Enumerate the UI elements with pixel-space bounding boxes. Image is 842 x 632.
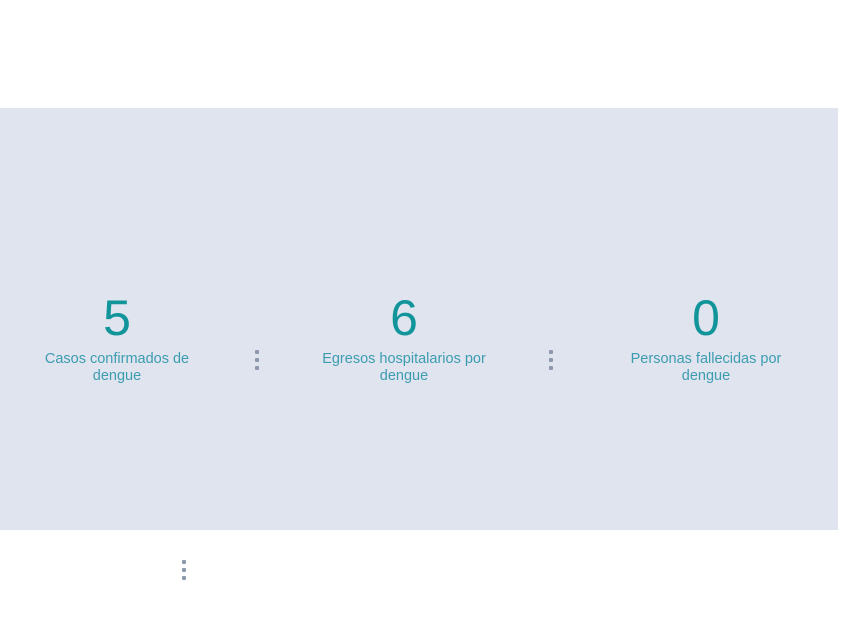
kebab-dot — [182, 568, 186, 572]
kpi-card-casos-confirmados[interactable]: 5 Casos confirmados de dengue — [0, 108, 234, 530]
kpi-body: 6 Egresos hospitalarios por dengue — [234, 293, 574, 384]
kebab-dot — [549, 358, 553, 362]
more-options-icon[interactable] — [176, 558, 192, 582]
kebab-dot — [255, 366, 259, 370]
kpi-label: Personas fallecidas por dengue — [574, 351, 838, 384]
kpi-value: 5 — [0, 293, 234, 343]
kebab-dot — [255, 358, 259, 362]
kpi-body: 0 Personas fallecidas por dengue — [574, 293, 838, 384]
kpi-row: 5 Casos confirmados de dengue 6 Egresos … — [0, 108, 838, 530]
dashboard-panel: 5 Casos confirmados de dengue 6 Egresos … — [0, 108, 838, 530]
kebab-dot — [182, 576, 186, 580]
kpi-label: Casos confirmados de dengue — [0, 351, 234, 384]
kebab-dot — [549, 350, 553, 354]
kpi-value: 0 — [574, 293, 838, 343]
more-options-icon[interactable] — [249, 348, 265, 372]
more-options-icon[interactable] — [543, 348, 559, 372]
kpi-card-egresos-hospitalarios[interactable]: 6 Egresos hospitalarios por dengue — [234, 108, 574, 530]
kebab-dot — [182, 560, 186, 564]
kpi-value: 6 — [234, 293, 574, 343]
kpi-card-personas-fallecidas[interactable]: 0 Personas fallecidas por dengue — [574, 108, 838, 530]
kpi-label: Egresos hospitalarios por dengue — [234, 351, 574, 384]
kebab-dot — [255, 350, 259, 354]
kebab-dot — [549, 366, 553, 370]
kpi-body: 5 Casos confirmados de dengue — [0, 293, 234, 384]
